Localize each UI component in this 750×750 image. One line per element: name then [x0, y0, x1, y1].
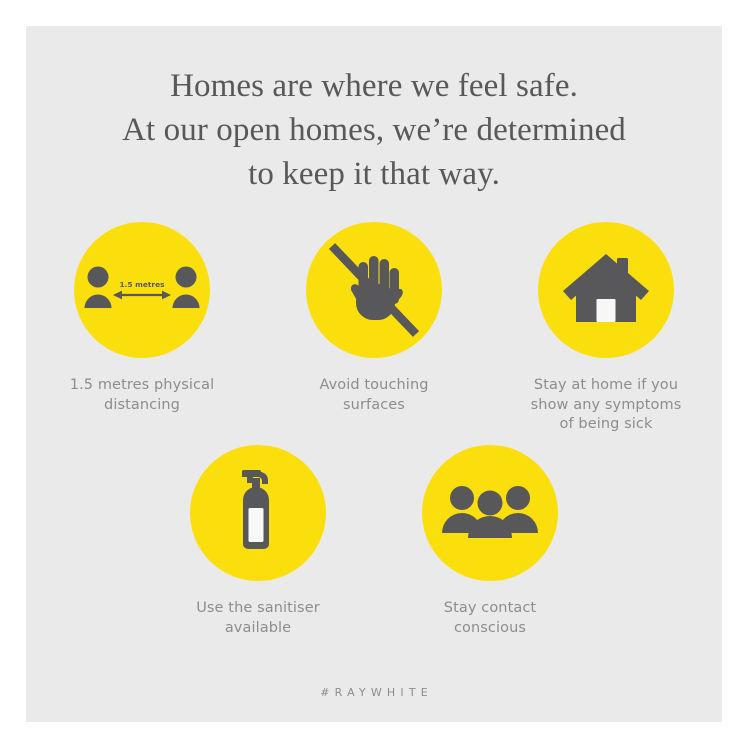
caption-line: available [196, 619, 320, 639]
safety-tip-avoid-touching: Avoid touching surfaces [258, 222, 490, 435]
safety-tip-sanitiser: Use the sanitiser available [142, 445, 374, 638]
caption-line: surfaces [319, 396, 428, 416]
sanitiser-bottle-icon [222, 467, 294, 559]
caption-distancing: 1.5 metres physical distancing [70, 376, 214, 415]
caption-line: 1.5 metres physical [70, 376, 214, 396]
social-distancing-icon: 1.5 metres [82, 254, 202, 326]
icon-circle-sanitiser [190, 445, 326, 581]
caption-stay-home: Stay at home if you show any symptoms of… [531, 376, 682, 435]
caption-line: Stay contact [444, 599, 536, 619]
safety-tips-row-bottom: Use the sanitiser available [26, 445, 722, 638]
icon-circle-stay-home [538, 222, 674, 358]
sanitiser-label [249, 508, 264, 542]
headline-line-1: Homes are where we feel safe. [26, 64, 722, 108]
caption-line: distancing [70, 396, 214, 416]
safety-tip-contact-conscious: Stay contact conscious [374, 445, 606, 638]
caption-line: of being sick [531, 415, 682, 435]
icon-circle-avoid-touching [306, 222, 442, 358]
caption-contact-conscious: Stay contact conscious [444, 599, 536, 638]
caption-line: Use the sanitiser [196, 599, 320, 619]
house-icon [562, 252, 650, 328]
page-title: Homes are where we feel safe. At our ope… [26, 64, 722, 196]
caption-sanitiser: Use the sanitiser available [196, 599, 320, 638]
headline-line-2: At our open homes, we’re determined [26, 108, 722, 152]
safety-tip-stay-home: Stay at home if you show any symptoms of… [490, 222, 722, 435]
no-touch-hand-icon [322, 238, 426, 342]
safety-tip-distancing: 1.5 metres 1.5 metres physical distancin… [26, 222, 258, 435]
footer-hashtag: #RAYWHITE [26, 686, 722, 699]
caption-line: Stay at home if you [531, 376, 682, 396]
safety-tips-row-top: 1.5 metres 1.5 metres physical distancin… [26, 222, 722, 435]
icon-circle-contact-conscious [422, 445, 558, 581]
poster-canvas: Homes are where we feel safe. At our ope… [26, 26, 722, 722]
distance-measure-label: 1.5 metres [120, 280, 166, 289]
caption-line: conscious [444, 619, 536, 639]
group-of-people-icon [442, 481, 538, 545]
headline-line-3: to keep it that way. [26, 152, 722, 196]
caption-line: Avoid touching [319, 376, 428, 396]
caption-line: show any symptoms [531, 396, 682, 416]
poster-root: Homes are where we feel safe. At our ope… [0, 0, 750, 750]
icon-circle-distancing: 1.5 metres [74, 222, 210, 358]
caption-avoid-touching: Avoid touching surfaces [319, 376, 428, 415]
